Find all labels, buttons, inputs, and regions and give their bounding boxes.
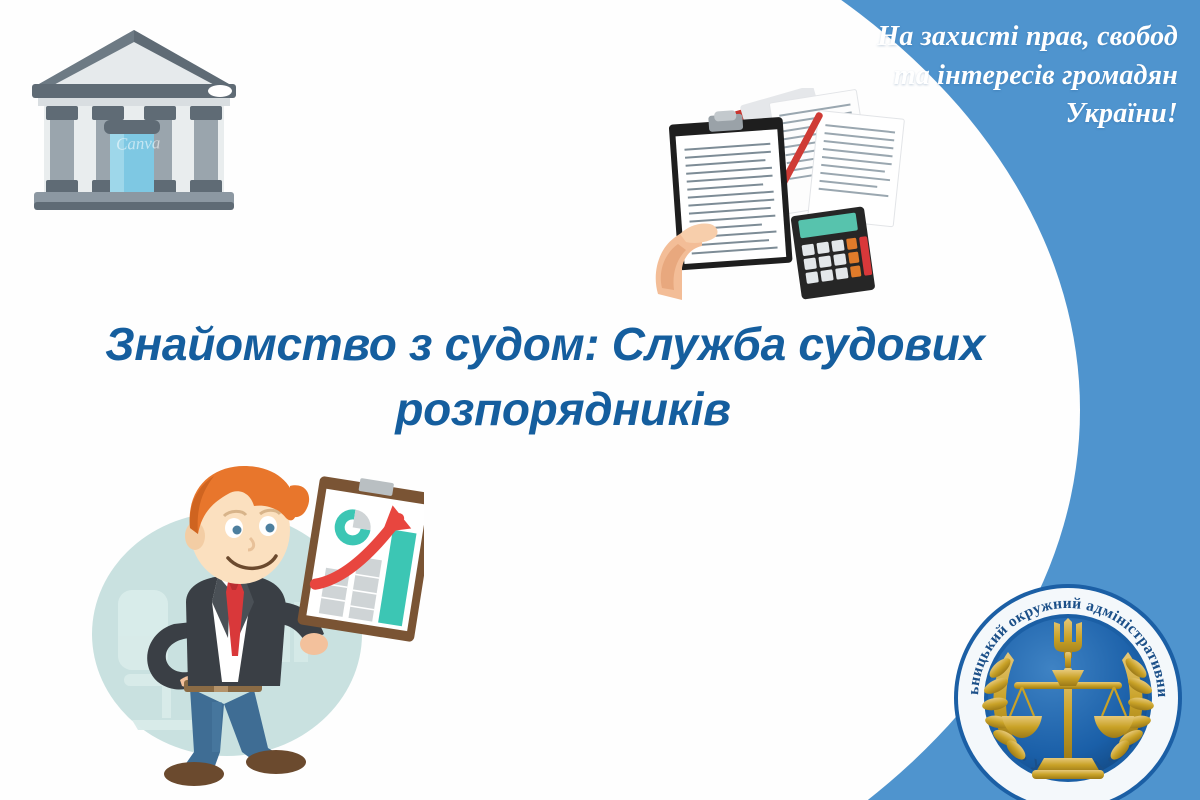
slogan-line-1: На захисті прав, свобод (778, 18, 1178, 57)
title-line-2: розпорядників (40, 377, 1050, 442)
courthouse-icon: Canva (24, 22, 244, 222)
page-title: Знайомство з судом: Служба судових розпо… (40, 312, 1050, 443)
slogan-line-2: та інтересів громадян (778, 57, 1178, 96)
businessman-with-chart-illustration (62, 452, 424, 792)
court-emblem: Хмельницький окружний адміністративний с… (952, 582, 1184, 800)
poster-canvas: Canva (0, 0, 1200, 800)
slogan-text: На захисті прав, свобод та інтересів гро… (778, 18, 1178, 134)
title-line-1: Знайомство з судом: Служба судових (40, 312, 1050, 377)
slogan-line-3: України! (778, 95, 1178, 134)
